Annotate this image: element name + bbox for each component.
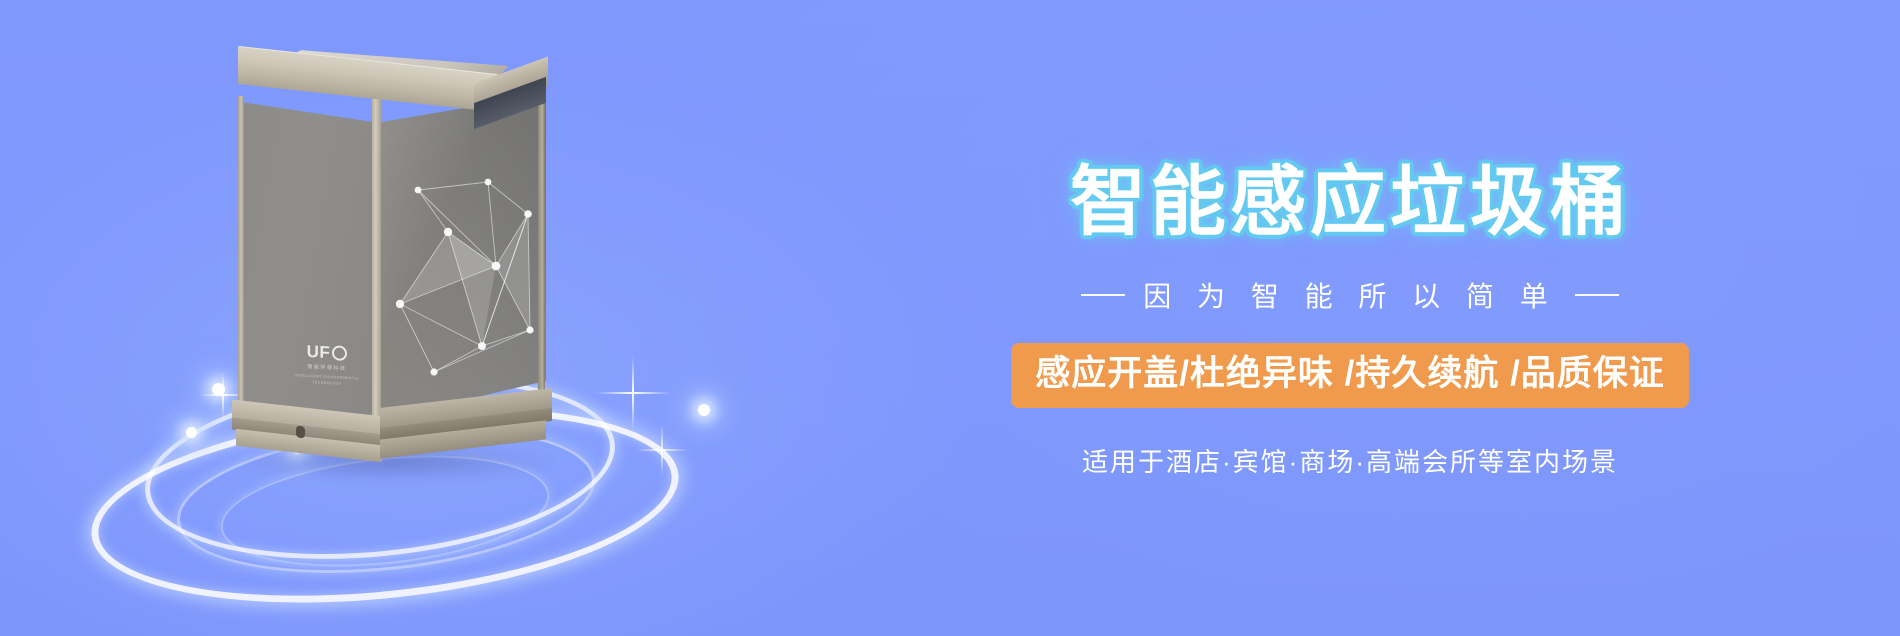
sparkle-glint-icon bbox=[698, 404, 710, 416]
banner-headline: 智能感应垃圾桶 bbox=[1070, 165, 1630, 241]
banner-subline: 因 为 智 能 所 以 简 单 bbox=[1081, 275, 1618, 315]
sparkle-glint-icon bbox=[212, 383, 225, 396]
subline-text: 因 为 智 能 所 以 简 单 bbox=[1143, 275, 1556, 315]
product-stage: UF 智能环保科技 INTELLIGENT ENVIRONMENTAL TECH… bbox=[60, 0, 720, 636]
bin-edge-left bbox=[238, 96, 244, 418]
sparkle-glint-icon bbox=[186, 427, 197, 438]
brand-letters: UF bbox=[307, 343, 331, 361]
product-brand-logo: UF 智能环保科技 INTELLIGENT ENVIRONMENTAL TECH… bbox=[292, 342, 362, 388]
promo-banner: UF 智能环保科技 INTELLIGENT ENVIRONMENTAL TECH… bbox=[0, 0, 1900, 636]
usage-caption: 适用于酒店·宾馆·商场·高端会所等室内场景 bbox=[1082, 442, 1618, 479]
rule-right bbox=[1575, 294, 1619, 296]
bin-base-vent-slot bbox=[296, 425, 305, 438]
low-poly-constellation-graphic bbox=[378, 94, 546, 420]
rule-left bbox=[1081, 294, 1125, 296]
bin-corner-pillar bbox=[372, 96, 381, 424]
marketing-copy-block: 智能感应垃圾桶 因 为 智 能 所 以 简 单 感应开盖/杜绝异味 /持久续航 … bbox=[900, 0, 1800, 636]
circle-o-icon bbox=[332, 345, 347, 361]
brand-chinese-name: 智能环保科技 bbox=[292, 362, 362, 373]
bin-edge-right bbox=[538, 90, 545, 408]
feature-badge: 感应开盖/杜绝异味 /持久续航 /品质保证 bbox=[1011, 343, 1689, 408]
product-image-smart-trash-bin: UF 智能环保科技 INTELLIGENT ENVIRONMENTAL TECH… bbox=[230, 56, 550, 436]
brand-wordmark: UF bbox=[292, 342, 362, 363]
